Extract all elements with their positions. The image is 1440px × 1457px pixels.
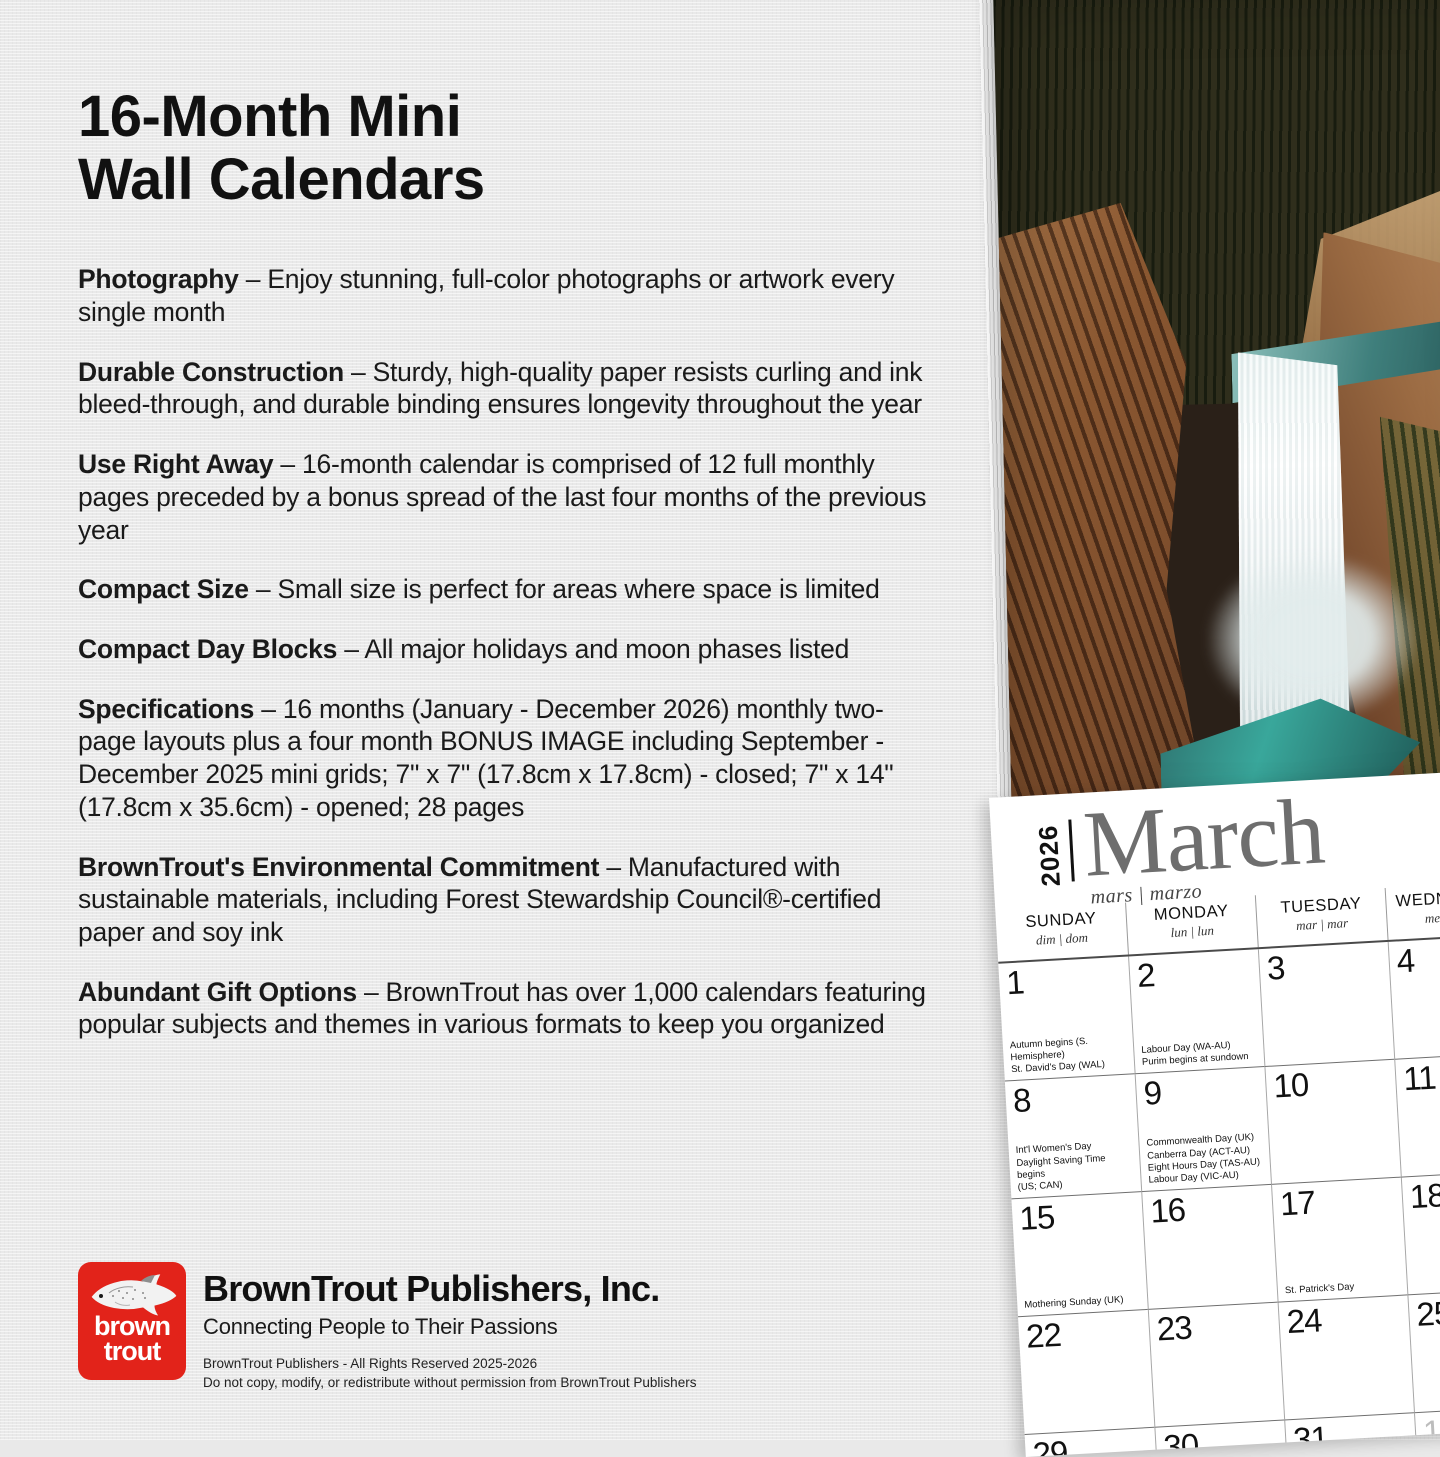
feature-paragraph: Photography – Enjoy stunning, full-color…: [78, 263, 929, 328]
calendar-day-cell[interactable]: 4Full Moon11:38 UT: [1388, 935, 1440, 1060]
feature-list: Photography – Enjoy stunning, full-color…: [78, 263, 929, 1041]
company-name: BrownTrout Publishers, Inc.: [203, 1268, 696, 1310]
footer-text-block: BrownTrout Publishers, Inc. Connecting P…: [203, 1262, 696, 1392]
day-number: 22: [1025, 1313, 1145, 1353]
calendar-day-cell[interactable]: 8Int'l Women's DayDaylight Saving Time b…: [1005, 1074, 1141, 1199]
page-title-line-1: 16-Month Mini: [78, 84, 461, 149]
page-title: 16-Month Mini Wall Calendars: [78, 86, 929, 211]
calendar-grid-page: 2026 March mars | marzo SUNDAYdim | domM…: [989, 769, 1440, 1457]
calendar-day-cell[interactable]: 22: [1018, 1310, 1154, 1435]
day-events: St. Patrick's Day: [1285, 1279, 1403, 1298]
calendar-day-cell[interactable]: 2Labour Day (WA-AU)Purim begins at sundo…: [1128, 949, 1264, 1074]
day-number: 18: [1409, 1174, 1440, 1213]
feature-lede: Durable Construction: [78, 357, 344, 387]
day-number: 24: [1286, 1299, 1405, 1338]
calendar-day-cell[interactable]: 24: [1278, 1295, 1414, 1420]
feature-paragraph: Abundant Gift Options – BrownTrout has o…: [78, 976, 929, 1041]
day-number: 11: [1402, 1056, 1440, 1095]
feature-lede: Compact Day Blocks: [78, 634, 337, 664]
product-description-panel: 16-Month Mini Wall Calendars Photography…: [0, 0, 975, 1440]
calendar-day-cell[interactable]: 17St. Patrick's Day: [1271, 1178, 1407, 1303]
feature-item: Durable Construction – Sturdy, high-qual…: [78, 356, 929, 421]
day-events: Labour Day (WA-AU)Purim begins at sundow…: [1141, 1038, 1260, 1069]
day-number: 2: [1136, 953, 1255, 992]
company-tagline: Connecting People to Their Passions: [203, 1314, 696, 1340]
feature-lede: Abundant Gift Options: [78, 977, 357, 1007]
weekday-header: MONDAYlun | lun: [1125, 895, 1258, 954]
day-number: 23: [1156, 1306, 1275, 1345]
calendar-day-cell[interactable]: 16: [1141, 1185, 1277, 1310]
feature-paragraph: Compact Size – Small size is perfect for…: [78, 573, 929, 606]
calendar-day-cell[interactable]: 15Mothering Sunday (UK): [1011, 1192, 1147, 1317]
feature-body: – All major holidays and moon phases lis…: [337, 634, 849, 664]
feature-item: BrownTrout's Environmental Commitment – …: [78, 851, 929, 949]
day-number: 8: [1012, 1078, 1132, 1118]
day-number: 9: [1143, 1070, 1262, 1109]
feature-paragraph: Compact Day Blocks – All major holidays …: [78, 633, 929, 666]
calendar-day-cell[interactable]: 9Commonwealth Day (UK)Canberra Day (ACT-…: [1135, 1067, 1271, 1192]
feature-lede: Use Right Away: [78, 449, 273, 479]
calendar-product-mockup: 2026 March mars | marzo SUNDAYdim | domM…: [975, 0, 1440, 1456]
calendar-photo-page: [993, 0, 1440, 831]
day-number: 10: [1273, 1063, 1392, 1102]
day-event-line: Autumn begins (S. Hemisphere): [1010, 1035, 1089, 1062]
feature-lede: Specifications: [78, 694, 254, 724]
day-number: 3: [1266, 945, 1385, 984]
calendar-day-cell[interactable]: 1: [1414, 1406, 1440, 1457]
redistribution-line: Do not copy, modify, or redistribute wit…: [203, 1373, 696, 1392]
weekday-header: WEDNESDAYmer | miér: [1385, 881, 1440, 940]
calendar-day-cell[interactable]: 10: [1264, 1060, 1400, 1185]
calendar-day-cell[interactable]: 25: [1407, 1288, 1440, 1413]
feature-item: Use Right Away – 16-month calendar is co…: [78, 448, 929, 546]
photo-vignette: [993, 0, 1440, 831]
calendar-day-cell[interactable]: 18: [1401, 1170, 1440, 1295]
day-event-line: Mothering Sunday (UK): [1024, 1294, 1124, 1311]
feature-paragraph: Durable Construction – Sturdy, high-qual…: [78, 356, 929, 421]
day-number: 4: [1396, 938, 1440, 977]
weekday-header: SUNDAYdim | dom: [995, 903, 1128, 962]
calendar-day-cell[interactable]: 3: [1258, 942, 1394, 1067]
day-event-line: (US; CAN): [1017, 1179, 1062, 1192]
day-event-line: Daylight Saving Time begins: [1016, 1153, 1106, 1181]
day-event-line: St. Patrick's Day: [1285, 1281, 1355, 1296]
feature-lede: Photography: [78, 264, 239, 294]
day-number: 31: [1292, 1417, 1411, 1456]
day-number: 25: [1416, 1291, 1440, 1330]
day-events: Autumn begins (S. Hemisphere)St. David's…: [1010, 1033, 1131, 1076]
page-title-line-2: Wall Calendars: [78, 147, 485, 212]
feature-paragraph: Specifications – 16 months (January - De…: [78, 693, 929, 824]
day-number: 1: [1422, 1409, 1440, 1448]
day-number: 30: [1163, 1424, 1282, 1457]
day-number: 15: [1019, 1195, 1139, 1235]
weekday-name: WEDNESDAY: [1386, 886, 1440, 912]
legal-notice: BrownTrout Publishers - All Rights Reser…: [203, 1354, 696, 1392]
calendar-day-cell[interactable]: 11: [1394, 1053, 1440, 1178]
day-number: 1: [1005, 960, 1125, 1000]
feature-item: Compact Day Blocks – All major holidays …: [78, 633, 929, 666]
feature-item: Compact Size – Small size is perfect for…: [78, 573, 929, 606]
calendar-day-cell[interactable]: 31: [1284, 1413, 1420, 1457]
feature-item: Specifications – 16 months (January - De…: [78, 693, 929, 824]
feature-lede: BrownTrout's Environmental Commitment: [78, 852, 599, 882]
browntrout-logo: brown trout: [78, 1262, 186, 1380]
day-events: Int'l Women's DayDaylight Saving Time be…: [1015, 1139, 1137, 1194]
calendar-year: 2026: [1033, 824, 1067, 887]
logo-word-trout: trout: [104, 1336, 160, 1366]
feature-paragraph: Use Right Away – 16-month calendar is co…: [78, 448, 929, 546]
copyright-line: BrownTrout Publishers - All Rights Reser…: [203, 1354, 696, 1373]
calendar-day-grid: 1Autumn begins (S. Hemisphere)St. David'…: [998, 933, 1440, 1457]
feature-paragraph: BrownTrout's Environmental Commitment – …: [78, 851, 929, 949]
calendar-day-cell[interactable]: 23: [1148, 1303, 1284, 1428]
logo-wordmark: brown trout: [78, 1314, 186, 1364]
day-events: Commonwealth Day (UK)Canberra Day (ACT-A…: [1146, 1132, 1267, 1187]
feature-item: Abundant Gift Options – BrownTrout has o…: [78, 976, 929, 1041]
day-number: 29: [1032, 1431, 1152, 1457]
year-divider-rule: [1068, 819, 1074, 881]
day-number: 16: [1149, 1188, 1268, 1227]
feature-body: – Small size is perfect for areas where …: [249, 574, 880, 604]
publisher-footer: brown trout BrownTrout Publishers, Inc. …: [78, 1262, 696, 1392]
calendar-month-name: March: [1081, 777, 1327, 898]
feature-item: Photography – Enjoy stunning, full-color…: [78, 263, 929, 328]
calendar-day-cell[interactable]: 1Autumn begins (S. Hemisphere)St. David'…: [998, 956, 1134, 1081]
day-number: 17: [1279, 1181, 1398, 1220]
feature-lede: Compact Size: [78, 574, 249, 604]
day-events: Mothering Sunday (UK): [1024, 1293, 1143, 1312]
calendar-day-cell[interactable]: 30: [1154, 1420, 1290, 1456]
weekday-header: TUESDAYmar | mar: [1255, 888, 1388, 947]
